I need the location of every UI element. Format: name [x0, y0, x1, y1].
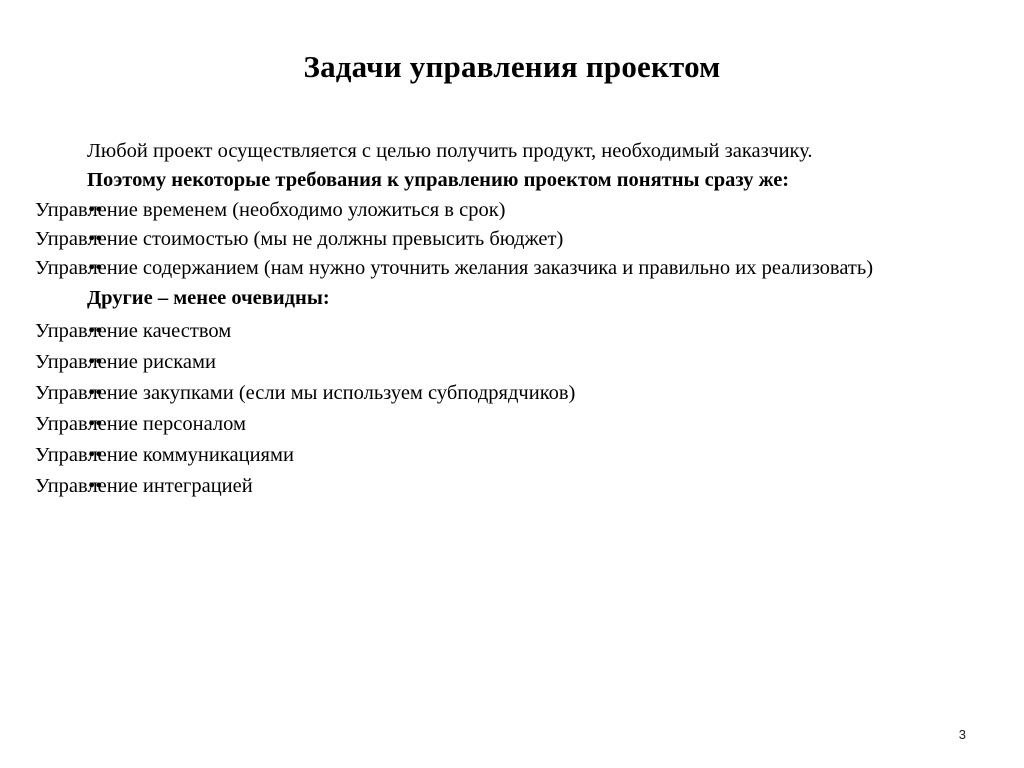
list-item: • Управление стоимостью (мы не должны пр…	[35, 225, 961, 254]
list-item-label: Управление закупками (если мы используем…	[35, 378, 961, 409]
secondary-heading: Другие – менее очевидны:	[35, 283, 961, 314]
list-item-label: Управление временем (необходимо уложитьс…	[35, 196, 961, 225]
slide: Задачи управления проектом Любой проект …	[0, 0, 1024, 768]
list-item-label: Управление интеграцией	[35, 471, 961, 502]
primary-bullet-list: • Управление временем (необходимо уложит…	[35, 196, 961, 283]
slide-body: Любой проект осуществляется с целью полу…	[35, 137, 961, 502]
list-item-label: Управление качеством	[35, 316, 961, 347]
paragraph-requirements-lead: Поэтому некоторые требования к управлени…	[35, 166, 961, 195]
list-item: • Управление коммуникациями	[35, 440, 961, 471]
list-item: • Управление интеграцией	[35, 471, 961, 502]
list-item-label: Управление рисками	[35, 347, 961, 378]
list-item-label: Управление содержанием (нам нужно уточни…	[35, 254, 961, 283]
list-item-label: Управление стоимостью (мы не должны прев…	[35, 225, 961, 254]
page-number: 3	[959, 727, 966, 742]
list-item: • Управление качеством	[35, 316, 961, 347]
page-title: Задачи управления проектом	[0, 48, 1024, 85]
paragraph-intro: Любой проект осуществляется с целью полу…	[35, 137, 961, 166]
list-item: • Управление временем (необходимо уложит…	[35, 196, 961, 225]
list-item: • Управление содержанием (нам нужно уточ…	[35, 254, 961, 283]
secondary-bullet-list: • Управление качеством • Управление риск…	[35, 316, 961, 502]
list-item-label: Управление коммуникациями	[35, 440, 961, 471]
list-item: • Управление персоналом	[35, 409, 961, 440]
list-item: • Управление закупками (если мы использу…	[35, 378, 961, 409]
list-item-label: Управление персоналом	[35, 409, 961, 440]
list-item: • Управление рисками	[35, 347, 961, 378]
